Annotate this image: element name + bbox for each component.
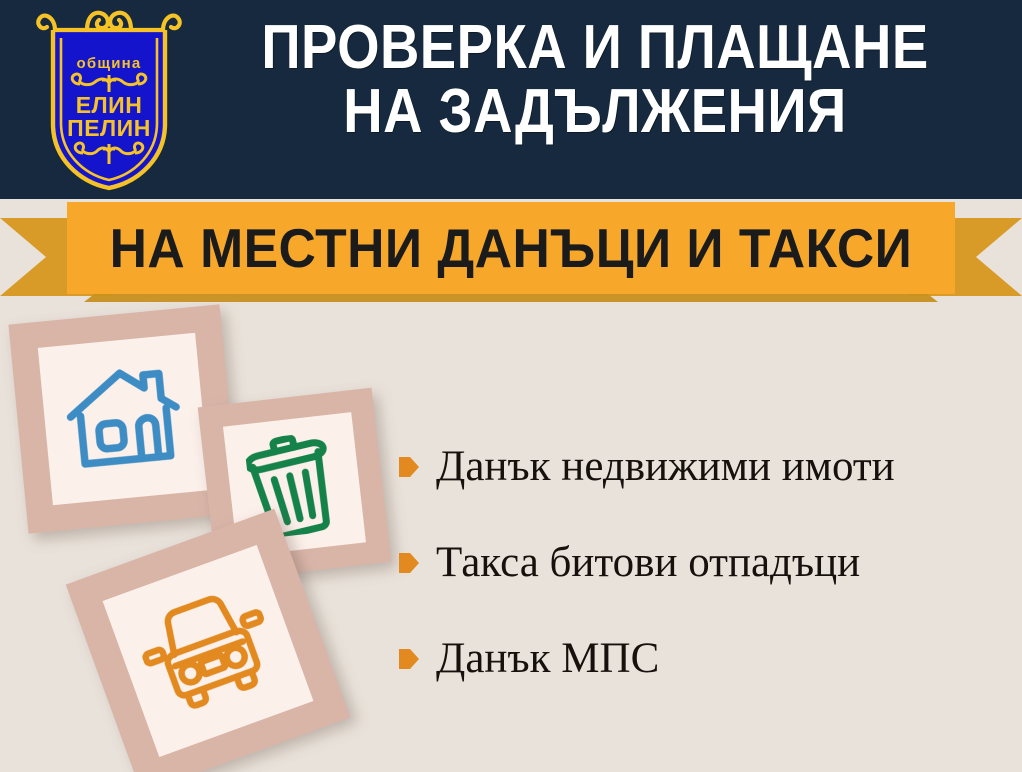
tax-type-list: Данък недвижими имоти Такса битови отпад… — [398, 418, 1018, 706]
svg-text:ПЕЛИН: ПЕЛИН — [67, 115, 151, 141]
list-item[interactable]: Такса битови отпадъци — [398, 514, 1018, 610]
stamp-face-house — [38, 333, 210, 505]
arrow-pentagon-bullet-icon — [398, 454, 420, 480]
subtitle-ribbon: НА МЕСТНИ ДАНЪЦИ И ТАКСИ — [0, 196, 1022, 311]
car-front-icon — [130, 579, 287, 722]
house-icon — [60, 359, 188, 480]
list-item[interactable]: Данък недвижими имоти — [398, 418, 1018, 514]
municipality-logo: община ЕЛИН ПЕЛИН — [33, 6, 185, 196]
poster-canvas: община ЕЛИН ПЕЛИН ПРОВЕРКА И ПЛАЩАНЕ НА … — [0, 0, 1022, 772]
list-item-label: Данък МПС — [436, 637, 659, 680]
svg-text:община: община — [77, 55, 142, 72]
list-item-label: Такса битови отпадъци — [436, 541, 860, 584]
arrow-pentagon-bullet-icon — [398, 550, 420, 576]
list-item[interactable]: Данък МПС — [398, 610, 1018, 706]
ribbon-label: НА МЕСТНИ ДАНЪЦИ И ТАКСИ — [110, 221, 913, 276]
list-item-label: Данък недвижими имоти — [436, 445, 895, 488]
ribbon-band: НА МЕСТНИ ДАНЪЦИ И ТАКСИ — [67, 202, 955, 294]
arrow-pentagon-bullet-icon — [398, 646, 420, 672]
